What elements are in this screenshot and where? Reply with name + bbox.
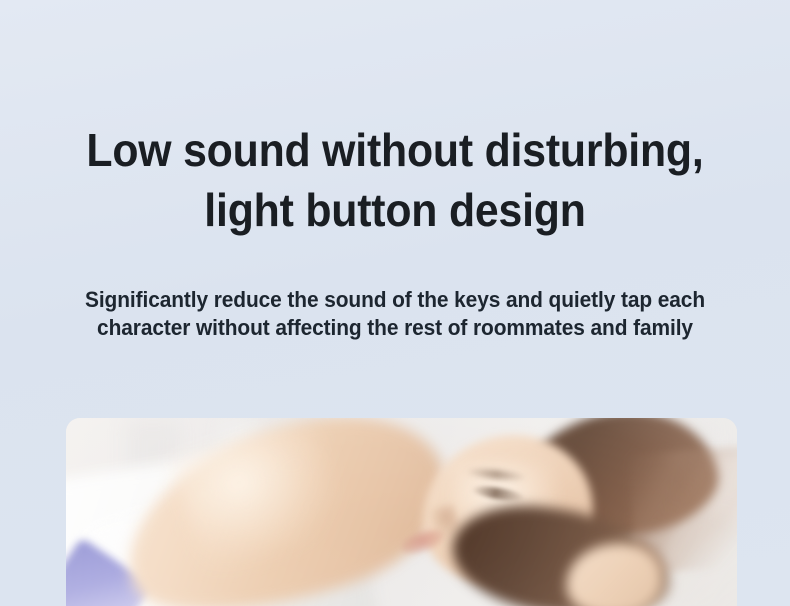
page-title: Low sound without disturbing, light butt… (28, 120, 763, 240)
photo-backdrop (66, 418, 737, 606)
promo-banner: Low sound without disturbing, light butt… (0, 0, 790, 606)
sleeping-woman-photo (66, 418, 737, 606)
headline-line-2: light button design (28, 180, 763, 240)
subtitle-line-1: Significantly reduce the sound of the ke… (20, 286, 771, 314)
subtitle-line-2: character without affecting the rest of … (20, 314, 771, 342)
page-subtitle: Significantly reduce the sound of the ke… (20, 286, 771, 342)
headline-line-1: Low sound without disturbing, (28, 120, 763, 180)
